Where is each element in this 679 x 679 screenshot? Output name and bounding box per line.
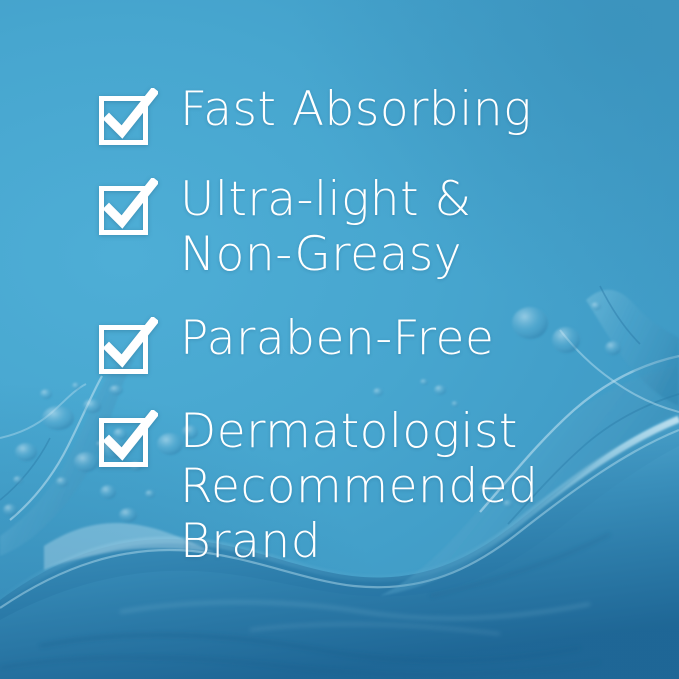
benefit-label: Ultra-light & Non-Greasy	[180, 172, 472, 282]
benefit-item-fast-absorbing: Fast Absorbing	[96, 82, 532, 150]
benefit-label: Paraben-Free	[180, 311, 494, 366]
product-benefits-banner: Fast Absorbing Ultra-light & Non-Greasy …	[0, 0, 679, 679]
benefits-checklist: Fast Absorbing Ultra-light & Non-Greasy …	[0, 0, 679, 679]
benefit-label: Fast Absorbing	[180, 82, 532, 137]
checkbox-checked-icon	[96, 410, 158, 472]
benefit-item-ultra-light-non-greasy: Ultra-light & Non-Greasy	[96, 172, 472, 282]
benefit-item-dermatologist-recommended-brand: Dermatologist Recommended Brand	[96, 404, 538, 569]
checkbox-checked-icon	[96, 178, 158, 240]
checkbox-checked-icon	[96, 317, 158, 379]
benefit-label: Dermatologist Recommended Brand	[180, 404, 538, 569]
checkbox-checked-icon	[96, 88, 158, 150]
benefit-item-paraben-free: Paraben-Free	[96, 311, 494, 379]
